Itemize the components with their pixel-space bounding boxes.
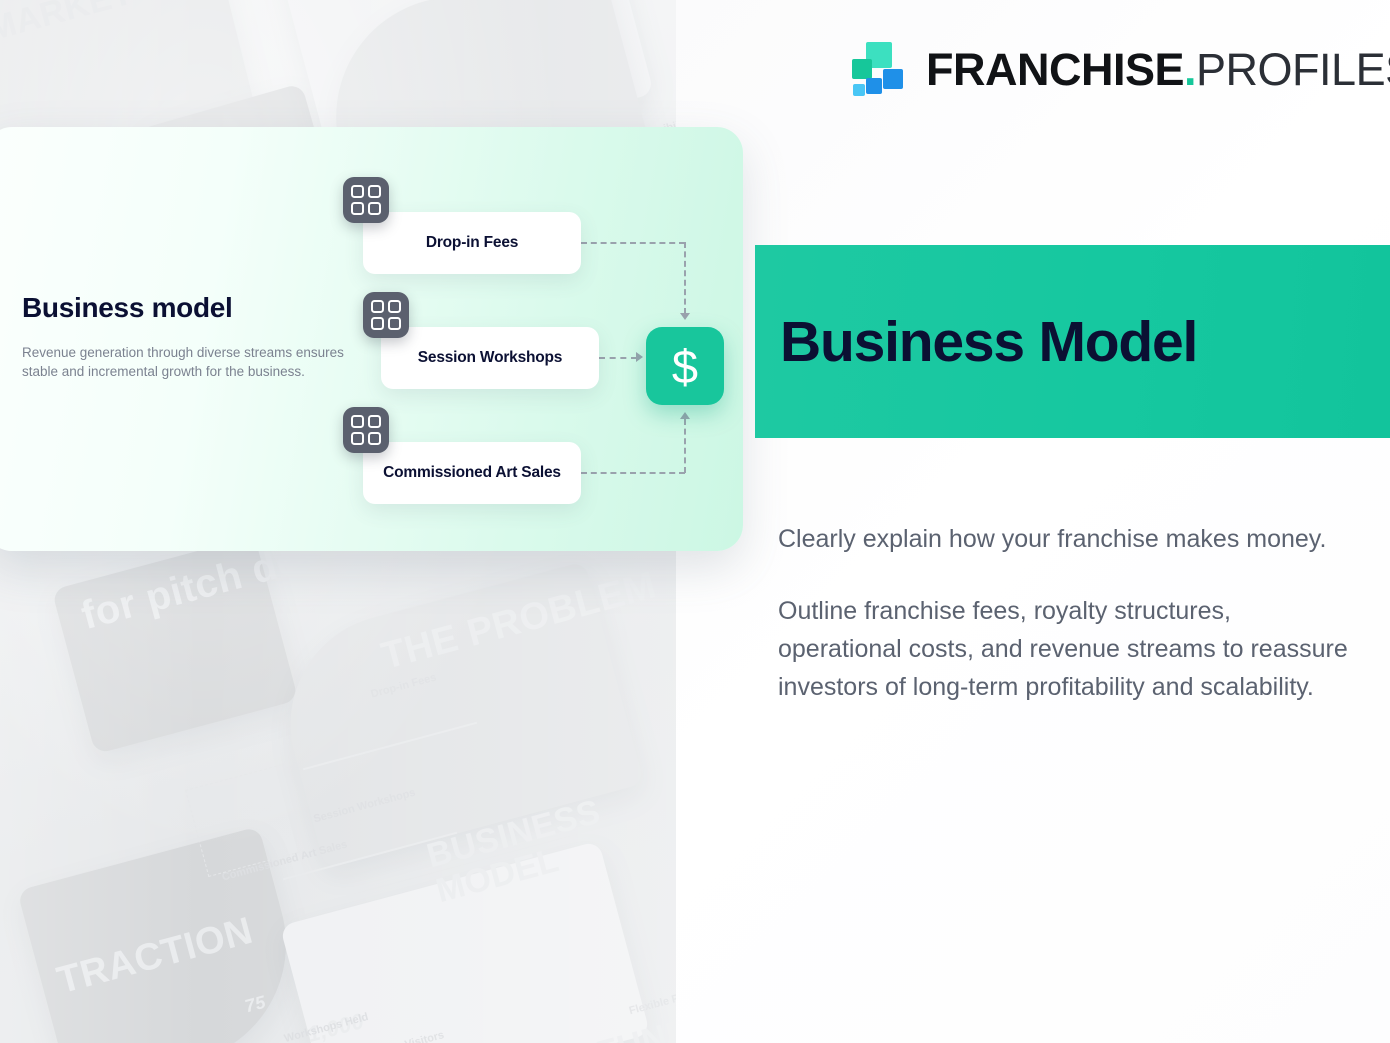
grid-icon-cell	[371, 300, 384, 313]
page-title: Business Model	[780, 309, 1197, 375]
grid-icon	[363, 292, 409, 338]
logo-word-franchise: FRANCHISE	[926, 44, 1184, 95]
grid-icon	[343, 407, 389, 453]
logo-word-profiles: PROFILES	[1196, 44, 1390, 95]
slide-preview-card[interactable]: Business model Revenue generation throug…	[0, 127, 743, 551]
grid-icon-cell	[351, 432, 364, 445]
grid-icon-cell	[368, 432, 381, 445]
grid-icon-cell	[388, 300, 401, 313]
dollar-glyph: $	[672, 343, 698, 390]
logo-squares-icon	[852, 40, 908, 98]
logo-square-teal	[852, 59, 872, 79]
body-paragraph-2: Outline franchise fees, royalty structur…	[778, 592, 1353, 706]
logo-square-sky	[853, 84, 865, 96]
connector-bottom-arrow-icon	[680, 412, 690, 419]
connector-top-horizontal	[581, 242, 685, 244]
grid-icon	[343, 177, 389, 223]
grid-icon-cell	[351, 185, 364, 198]
logo-square-blue-large	[883, 69, 903, 89]
grid-icon-cell	[388, 317, 401, 330]
connector-bottom-horizontal	[581, 472, 685, 474]
body-copy: Clearly explain how your franchise makes…	[778, 520, 1353, 706]
brand-logo[interactable]: FRANCHISE.PROFILES	[852, 40, 1390, 98]
logo-dot: .	[1184, 44, 1196, 95]
stream-box-drop-in-fees[interactable]: Drop-in Fees	[363, 212, 581, 274]
stream-box-session-workshops[interactable]: Session Workshops	[381, 327, 599, 389]
grid-icon-cell	[351, 415, 364, 428]
body-paragraph-1: Clearly explain how your franchise makes…	[778, 520, 1353, 558]
grid-icon-cell	[368, 202, 381, 215]
dollar-sign-icon: $	[646, 327, 724, 405]
grid-icon-cell	[371, 317, 384, 330]
grid-icon-cell	[368, 415, 381, 428]
connector-top-vertical	[684, 242, 686, 314]
connector-bottom-vertical	[684, 419, 686, 473]
stream-box-commissioned-art-sales[interactable]: Commissioned Art Sales	[363, 442, 581, 504]
revenue-flow-diagram: Drop-in Fees Session Workshops Commissio…	[0, 127, 743, 551]
connector-mid-arrow-icon	[636, 352, 643, 362]
connector-mid-horizontal	[599, 357, 637, 359]
grid-icon-cell	[351, 202, 364, 215]
connector-top-arrow-icon	[680, 313, 690, 320]
grid-icon-cell	[368, 185, 381, 198]
logo-wordmark: FRANCHISE.PROFILES	[926, 47, 1390, 92]
logo-square-blue-small	[866, 78, 882, 94]
title-banner: Business Model	[755, 245, 1390, 438]
